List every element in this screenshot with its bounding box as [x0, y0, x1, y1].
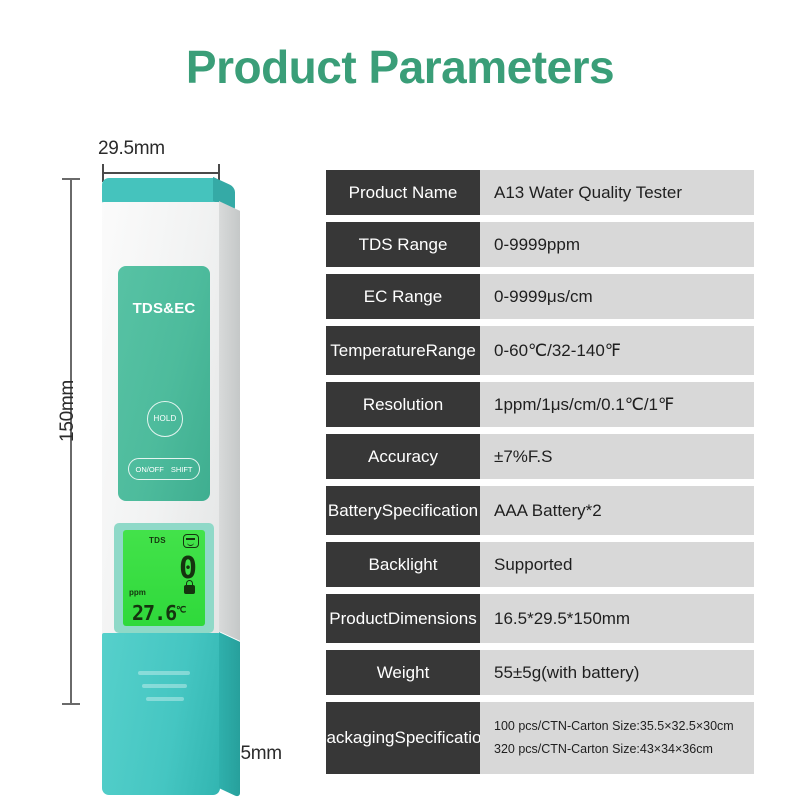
lcd-mode-label: TDS [149, 536, 166, 545]
device-grip-ridge [146, 697, 184, 701]
spec-label-cell: Backlight [326, 542, 480, 587]
hold-button[interactable]: HOLD [147, 401, 183, 437]
lcd-temperature-value: 27.6℃ [132, 601, 186, 625]
spec-label-text: Product [329, 609, 388, 628]
height-dimension-tick-top [62, 178, 80, 180]
spec-value-text: Supported [494, 555, 740, 575]
device-front-panel: TDS&EC HOLD ON/OFF SHIFT [118, 266, 210, 501]
table-row: Product NameA13 Water Quality Tester [326, 170, 754, 215]
spec-value-cell: AAA Battery*2 [480, 486, 754, 535]
device-panel-title: TDS&EC [118, 300, 210, 317]
spec-label-text: Weight [377, 663, 430, 682]
device-grip-ridge [142, 684, 187, 688]
table-row: BacklightSupported [326, 542, 754, 587]
spec-value-cell: 0-9999ppm [480, 222, 754, 267]
table-row: Weight55±5g(with battery) [326, 650, 754, 695]
spec-label-cell: Weight [326, 650, 480, 695]
spec-label-text: Range [426, 341, 476, 360]
spec-value-text: AAA Battery*2 [494, 501, 740, 521]
spec-value-cell: Supported [480, 542, 754, 587]
table-row: Resolution1ppm/1μs/cm/0.1℃/1℉ [326, 382, 754, 427]
lcd-unit-label: ppm [129, 588, 146, 597]
spec-value-text: 0-9999ppm [494, 235, 740, 255]
spec-label-text: Specification [382, 501, 478, 520]
table-row: PackagingSpecification100 pcs/CTN-Carton… [326, 702, 754, 774]
spec-label-text: EC Range [364, 287, 442, 306]
height-dimension-label: 150mm [57, 356, 79, 466]
spec-label-cell: EC Range [326, 274, 480, 319]
lock-icon [184, 585, 195, 594]
spec-value-text: 16.5*29.5*150mm [494, 609, 740, 629]
spec-value-cell: 16.5*29.5*150mm [480, 594, 754, 643]
spec-label-cell: PackagingSpecification [326, 702, 480, 774]
spec-value-cell: 1ppm/1μs/cm/0.1℃/1℉ [480, 382, 754, 427]
spec-value-cell: 0-9999μs/cm [480, 274, 754, 319]
specification-table: Product NameA13 Water Quality TesterTDS … [326, 170, 754, 781]
table-row: BatterySpecificationAAA Battery*2 [326, 486, 754, 535]
spec-value-text: ±7%F.S [494, 447, 740, 467]
lcd-temperature-unit: ℃ [176, 605, 186, 615]
spec-label-text: Product Name [349, 183, 458, 202]
product-illustration: 29.5mm 150mm 16.5mm TDS&EC HOLD ON/OFF S… [30, 130, 320, 790]
table-row: Accuracy±7%F.S [326, 434, 754, 479]
spec-label-text: TDS Range [359, 235, 448, 254]
spec-label-text: Specification [395, 728, 491, 747]
spec-label-cell: Product Name [326, 170, 480, 215]
width-dimension-label: 29.5mm [98, 138, 165, 160]
device-grip-ridge [138, 671, 190, 675]
spec-label-text: Battery [328, 501, 382, 520]
onoff-shift-button[interactable]: ON/OFF SHIFT [128, 458, 200, 480]
spec-value-text: 320 pcs/CTN-Carton Size:43×34×36cm [494, 738, 740, 761]
spec-value-cell: 55±5g(with battery) [480, 650, 754, 695]
table-row: TemperatureRange0-60℃/32-140℉ [326, 326, 754, 375]
spec-value-text: 55±5g(with battery) [494, 663, 740, 683]
height-dimension-tick-bottom [62, 703, 80, 705]
lcd-bezel: TDS 0 ppm 27.6℃ [114, 523, 214, 633]
spec-value-text: 100 pcs/CTN-Carton Size:35.5×32.5×30cm [494, 715, 740, 738]
spec-label-cell: Resolution [326, 382, 480, 427]
spec-value-cell: 0-60℃/32-140℉ [480, 326, 754, 375]
spec-value-cell: ±7%F.S [480, 434, 754, 479]
smiley-face-icon [183, 534, 199, 548]
spec-value-cell: 100 pcs/CTN-Carton Size:35.5×32.5×30cm32… [480, 702, 754, 774]
shift-button-label: SHIFT [171, 465, 193, 474]
spec-label-cell: Accuracy [326, 434, 480, 479]
spec-label-text: Accuracy [368, 447, 438, 466]
page-title: Product Parameters [0, 40, 800, 94]
spec-label-text: Temperature [330, 341, 425, 360]
table-row: EC Range0-9999μs/cm [326, 274, 754, 319]
table-row: ProductDimensions16.5*29.5*150mm [326, 594, 754, 643]
spec-value-text: 1ppm/1μs/cm/0.1℃/1℉ [494, 395, 740, 415]
spec-label-text: Dimensions [388, 609, 477, 628]
spec-label-cell: ProductDimensions [326, 594, 480, 643]
spec-label-text: Backlight [369, 555, 438, 574]
table-row: TDS Range0-9999ppm [326, 222, 754, 267]
onoff-button-label: ON/OFF [135, 465, 163, 474]
spec-label-cell: BatterySpecification [326, 486, 480, 535]
device-lower-body-side [219, 632, 240, 798]
spec-value-text: A13 Water Quality Tester [494, 183, 740, 203]
spec-value-cell: A13 Water Quality Tester [480, 170, 754, 215]
device-lower-body [102, 633, 220, 795]
spec-label-cell: TDS Range [326, 222, 480, 267]
width-dimension-line [102, 172, 220, 174]
device-cap [102, 178, 220, 204]
lcd-temperature-number: 27.6 [132, 601, 176, 625]
spec-label-text: Resolution [363, 395, 443, 414]
spec-label-text: Packaging [315, 728, 394, 747]
spec-value-text: 0-60℃/32-140℉ [494, 341, 740, 361]
spec-value-text: 0-9999μs/cm [494, 287, 740, 307]
device-upper-body-side [219, 201, 240, 641]
lcd-screen: TDS 0 ppm 27.6℃ [123, 530, 205, 626]
spec-label-cell: TemperatureRange [326, 326, 480, 375]
